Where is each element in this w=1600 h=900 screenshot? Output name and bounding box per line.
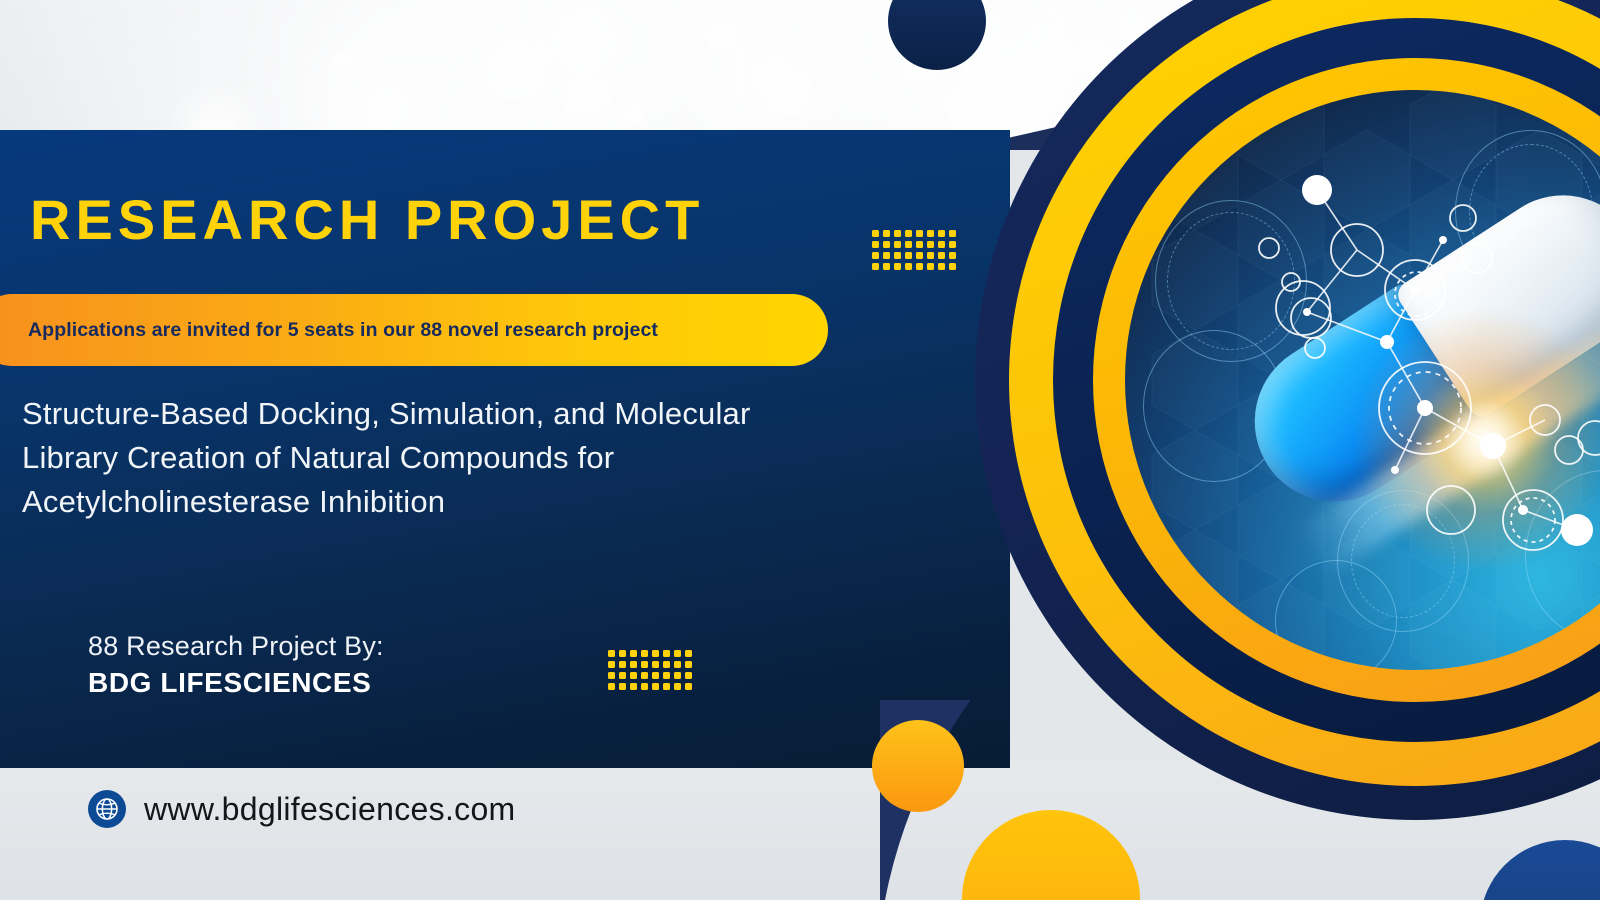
byline-prefix: 88 Research Project By: <box>88 628 384 664</box>
page-title: RESEARCH PROJECT <box>30 192 704 248</box>
organization-name: BDG LIFESCIENCES <box>88 664 384 702</box>
byline-block: 88 Research Project By: BDG LIFESCIENCES <box>88 628 384 702</box>
applications-banner-text: Applications are invited for 5 seats in … <box>28 319 658 342</box>
footer-website[interactable]: www.bdglifesciences.com <box>88 790 516 828</box>
orb-core-image <box>1125 90 1600 670</box>
project-subtitle: Structure-Based Docking, Simulation, and… <box>22 392 852 524</box>
capsule-orb-graphic <box>975 0 1600 820</box>
dot-grid-decor-bottom <box>608 650 696 694</box>
globe-icon <box>88 790 126 828</box>
applications-banner: Applications are invited for 5 seats in … <box>0 294 828 366</box>
dot-grid-decor-top <box>872 230 960 274</box>
website-url[interactable]: www.bdglifesciences.com <box>144 791 516 828</box>
research-project-poster: RESEARCH PROJECT Applications are invite… <box>0 0 1600 900</box>
orange-circle-decor <box>872 720 964 812</box>
molecule-network <box>1125 90 1600 670</box>
